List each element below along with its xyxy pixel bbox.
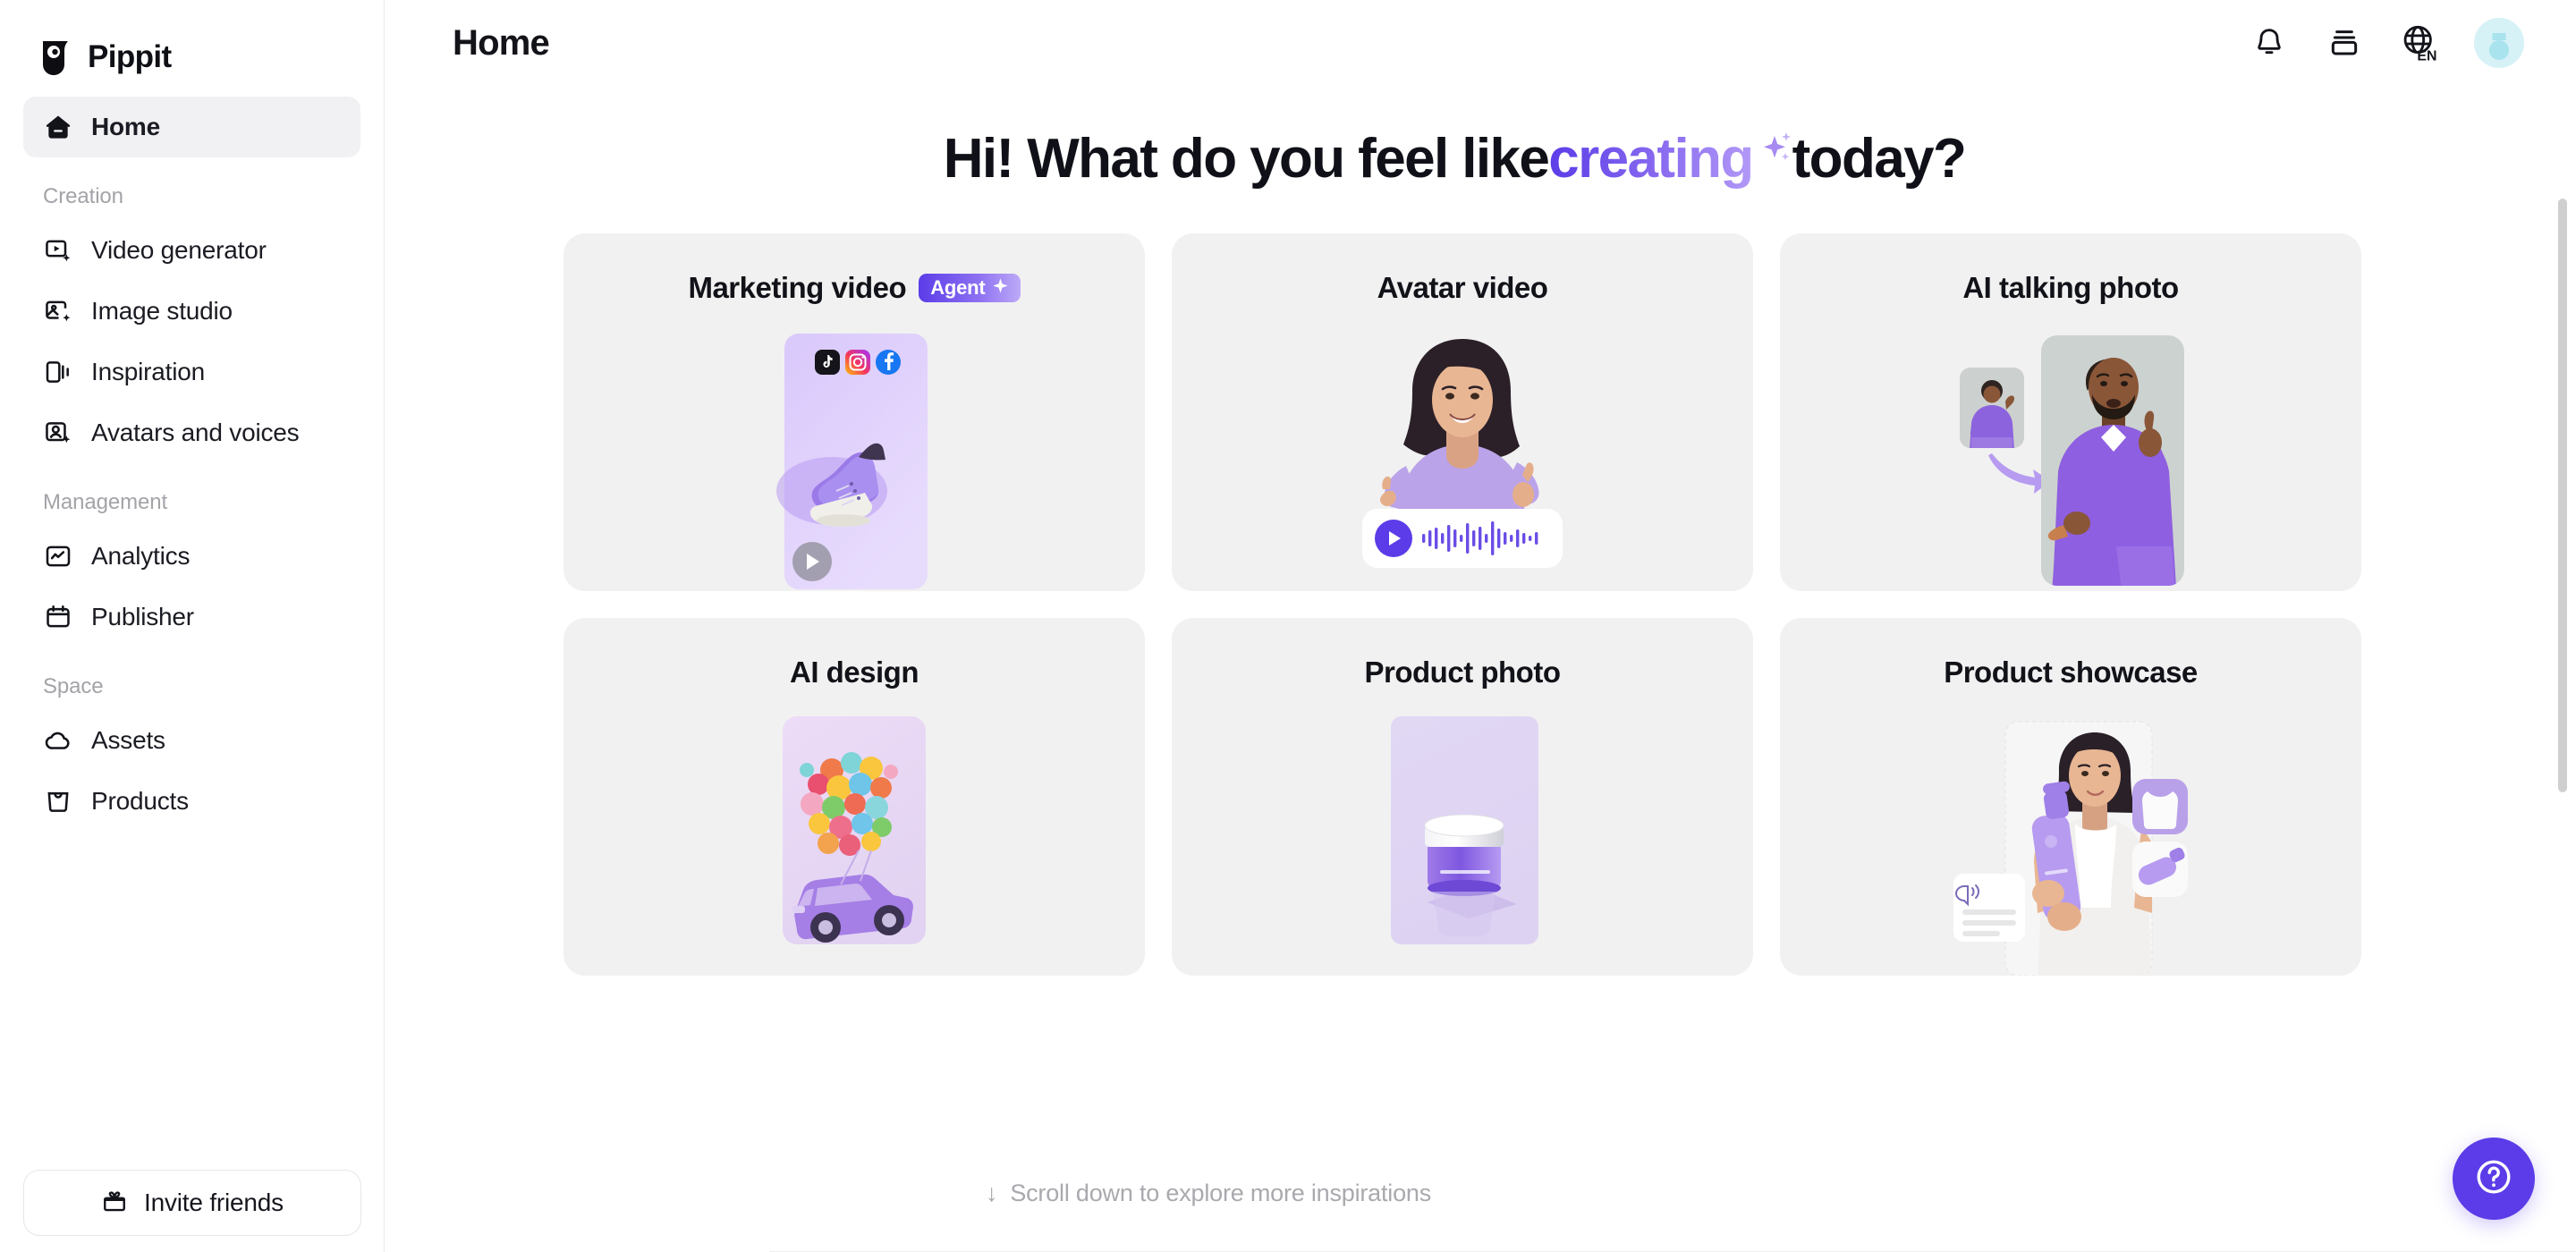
- hero-heading: Hi! What do you feel like creating today…: [944, 127, 1966, 190]
- hero-prefix: Hi! What do you feel like: [944, 127, 1549, 190]
- sidebar-item-label: Avatars and voices: [91, 419, 299, 447]
- bell-icon[interactable]: [2249, 22, 2290, 63]
- sidebar-item-products[interactable]: Products: [23, 771, 360, 832]
- sidebar-item-analytics[interactable]: Analytics: [23, 526, 360, 587]
- card-title-text: Marketing video: [688, 271, 906, 305]
- sidebar-item-publisher[interactable]: Publisher: [23, 587, 360, 647]
- sidebar: Pippit Home Creation: [0, 0, 385, 1252]
- card-title: Product photo: [1172, 656, 1753, 689]
- image-studio-icon: [43, 296, 73, 326]
- hero: Hi! What do you feel like creating today…: [385, 86, 2524, 190]
- product-showcase-art: [1780, 716, 2361, 976]
- sidebar-item-assets[interactable]: Assets: [23, 710, 360, 771]
- feature-card-ai-talking-photo[interactable]: AI talking photo: [1780, 233, 2361, 591]
- card-title-text: AI talking photo: [1962, 271, 2178, 305]
- sidebar-item-video-generator[interactable]: Video generator: [23, 220, 360, 281]
- assets-cloud-icon: [43, 725, 73, 756]
- sidebar-item-home[interactable]: Home: [23, 97, 360, 157]
- sparkle-icon: [992, 277, 1009, 298]
- page-title: Home: [453, 23, 549, 63]
- feature-card-product-showcase[interactable]: Product showcase: [1780, 618, 2361, 976]
- card-title: AI talking photo: [1780, 271, 2361, 305]
- video-generator-icon: [43, 235, 73, 266]
- ai-talking-photo-art: [1780, 332, 2361, 591]
- sidebar-item-label: Analytics: [91, 542, 190, 571]
- feature-card-marketing-video[interactable]: Marketing video Agent: [563, 233, 1145, 591]
- scrollbar-thumb[interactable]: [2558, 199, 2567, 792]
- topbar-actions: EN: [2249, 18, 2524, 68]
- sidebar-item-label: Products: [91, 787, 189, 816]
- hero-suffix: today?: [1792, 127, 1966, 190]
- avatars-and-voices-icon: [43, 418, 73, 448]
- analytics-icon: [43, 541, 73, 571]
- card-stack-icon[interactable]: [2324, 22, 2365, 63]
- feature-card-ai-design[interactable]: AI design: [563, 618, 1145, 976]
- card-title: AI design: [563, 656, 1145, 689]
- globe-icon[interactable]: EN: [2399, 22, 2440, 63]
- scroll-hint-text: Scroll down to explore more inspirations: [1010, 1180, 1431, 1207]
- card-title: Product showcase: [1780, 656, 2361, 689]
- hero-highlight: creating: [1548, 127, 1756, 190]
- brand[interactable]: Pippit: [0, 0, 384, 86]
- scroll-down-arrow-icon: ↓: [986, 1180, 997, 1207]
- svg-text:EN: EN: [2417, 48, 2436, 63]
- scroll-hint: ↓ Scroll down to explore more inspiratio…: [986, 1180, 1431, 1207]
- publisher-calendar-icon: [43, 602, 73, 632]
- home-icon: [43, 112, 73, 142]
- invite-friends-button[interactable]: Invite friends: [23, 1170, 361, 1236]
- inspiration-icon: [43, 357, 73, 387]
- sidebar-item-label: Assets: [91, 726, 165, 755]
- sidebar-nav: Home Creation Video generator: [0, 86, 384, 832]
- app-root: Pippit Home Creation: [0, 0, 2576, 1252]
- scrollbar-track: [2556, 172, 2569, 1252]
- sidebar-item-label: Home: [91, 113, 160, 141]
- sparkles-icon: [1757, 127, 1792, 163]
- invite-friends-label: Invite friends: [144, 1189, 284, 1217]
- topbar: Home: [385, 0, 2576, 86]
- question-mark-circle-icon: [2472, 1155, 2515, 1203]
- marketing-video-art: [563, 332, 1145, 591]
- sidebar-item-inspiration[interactable]: Inspiration: [23, 342, 360, 402]
- sidebar-group-title-management: Management: [23, 463, 360, 526]
- feature-card-product-photo[interactable]: Product photo: [1172, 618, 1753, 976]
- card-title-text: Avatar video: [1377, 271, 1548, 305]
- feature-card-avatar-video[interactable]: Avatar video: [1172, 233, 1753, 591]
- card-title: Marketing video Agent: [563, 271, 1145, 305]
- sidebar-item-label: Inspiration: [91, 358, 205, 386]
- ai-design-art: [563, 716, 1145, 976]
- sidebar-item-image-studio[interactable]: Image studio: [23, 281, 360, 342]
- sidebar-group-title-creation: Creation: [23, 157, 360, 220]
- products-bag-icon: [43, 786, 73, 816]
- content: Hi! What do you feel like creating today…: [385, 86, 2576, 1252]
- brand-name: Pippit: [88, 39, 172, 75]
- pippit-bird-logo-icon: [39, 38, 75, 77]
- sidebar-item-label: Publisher: [91, 603, 194, 631]
- card-title-text: Product showcase: [1944, 656, 2198, 689]
- feature-card-grid: Marketing video Agent: [385, 233, 2524, 976]
- help-button[interactable]: [2453, 1138, 2535, 1220]
- agent-badge-label: Agent: [930, 278, 985, 298]
- card-title-text: AI design: [790, 656, 919, 689]
- main-area: Home: [385, 0, 2576, 1252]
- gift-icon: [101, 1188, 128, 1219]
- sidebar-item-label: Image studio: [91, 297, 233, 326]
- invite-friends-wrap: Invite friends: [0, 1170, 385, 1236]
- card-title-text: Product photo: [1365, 656, 1561, 689]
- sidebar-group-title-space: Space: [23, 647, 360, 710]
- avatar-video-art: [1172, 332, 1753, 591]
- product-photo-art: [1172, 716, 1753, 976]
- agent-badge: Agent: [919, 274, 1020, 302]
- sidebar-item-avatars-and-voices[interactable]: Avatars and voices: [23, 402, 360, 463]
- sidebar-item-label: Video generator: [91, 236, 267, 265]
- card-title: Avatar video: [1172, 271, 1753, 305]
- avatar[interactable]: [2474, 18, 2524, 68]
